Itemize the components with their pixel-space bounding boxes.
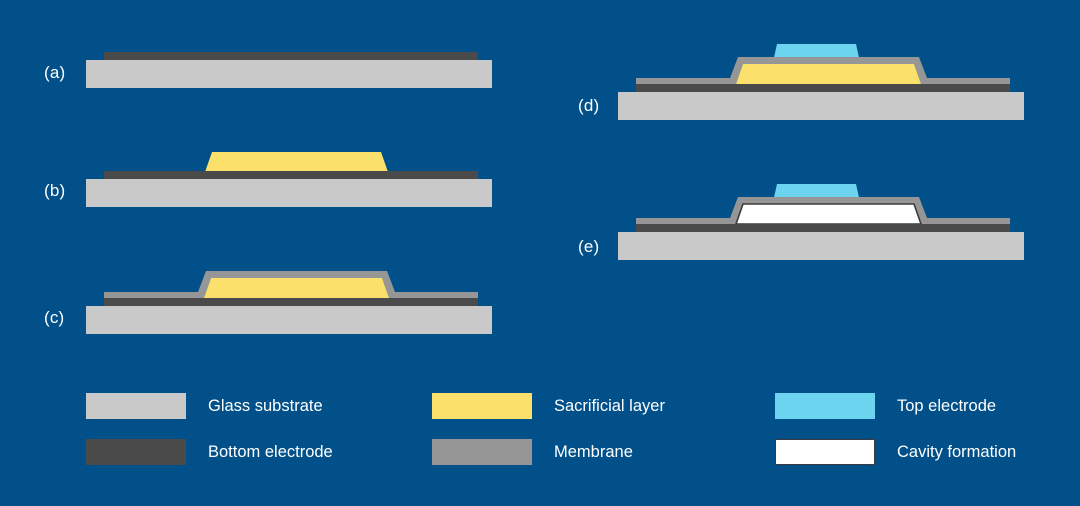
bottom-electrode-layer bbox=[104, 298, 478, 307]
bottom-electrode-layer bbox=[104, 52, 478, 61]
figure-canvas: (a) (b) (c) (d) bbox=[0, 0, 1080, 506]
legend-swatch-sacrificial-layer bbox=[432, 393, 532, 419]
legend-swatch-glass-substrate bbox=[86, 393, 186, 419]
panel-b-diagram bbox=[86, 145, 496, 207]
bottom-electrode-layer bbox=[104, 171, 478, 180]
legend-label-cavity-formation: Cavity formation bbox=[897, 443, 1016, 462]
panel-e-diagram bbox=[618, 180, 1028, 260]
panel-label-e: (e) bbox=[578, 237, 599, 257]
panel-c-diagram bbox=[86, 262, 496, 334]
glass-substrate-layer bbox=[86, 306, 492, 334]
legend-label-bottom-electrode: Bottom electrode bbox=[208, 443, 333, 462]
glass-substrate-layer bbox=[86, 60, 492, 88]
glass-substrate-layer bbox=[86, 179, 492, 207]
panel-label-a: (a) bbox=[44, 63, 65, 83]
panel-d-diagram bbox=[618, 40, 1028, 120]
panel-d bbox=[618, 40, 1028, 120]
bottom-electrode-layer bbox=[636, 84, 1010, 93]
legend-label-membrane: Membrane bbox=[554, 443, 633, 462]
legend-item-bottom-electrode: Bottom electrode bbox=[86, 439, 333, 465]
panel-c bbox=[86, 262, 496, 334]
sacrificial-layer-layer bbox=[205, 152, 388, 172]
legend-item-glass-substrate: Glass substrate bbox=[86, 393, 323, 419]
legend-item-sacrificial-layer: Sacrificial layer bbox=[432, 393, 665, 419]
sacrificial-layer-layer bbox=[204, 278, 389, 298]
panel-label-d: (d) bbox=[578, 96, 599, 116]
legend-label-glass-substrate: Glass substrate bbox=[208, 397, 323, 416]
legend-item-top-electrode: Top electrode bbox=[775, 393, 996, 419]
glass-substrate-layer bbox=[618, 92, 1024, 120]
panel-b bbox=[86, 145, 496, 207]
panel-label-b: (b) bbox=[44, 181, 65, 201]
sacrificial-layer-layer bbox=[736, 64, 921, 84]
legend-label-top-electrode: Top electrode bbox=[897, 397, 996, 416]
legend-label-sacrificial-layer: Sacrificial layer bbox=[554, 397, 665, 416]
glass-substrate-layer bbox=[618, 232, 1024, 260]
legend-swatch-cavity-formation bbox=[775, 439, 875, 465]
bottom-electrode-layer bbox=[636, 224, 1010, 233]
legend-item-cavity-formation: Cavity formation bbox=[775, 439, 1016, 465]
legend-swatch-bottom-electrode bbox=[86, 439, 186, 465]
legend: Glass substrate Bottom electrode Sacrifi… bbox=[0, 384, 1080, 484]
panel-a bbox=[86, 44, 496, 94]
panel-e bbox=[618, 180, 1028, 260]
panel-a-diagram bbox=[86, 44, 496, 94]
legend-item-membrane: Membrane bbox=[432, 439, 633, 465]
legend-swatch-membrane bbox=[432, 439, 532, 465]
legend-swatch-top-electrode bbox=[775, 393, 875, 419]
panel-label-c: (c) bbox=[44, 308, 64, 328]
cavity-formation-layer bbox=[736, 204, 921, 224]
